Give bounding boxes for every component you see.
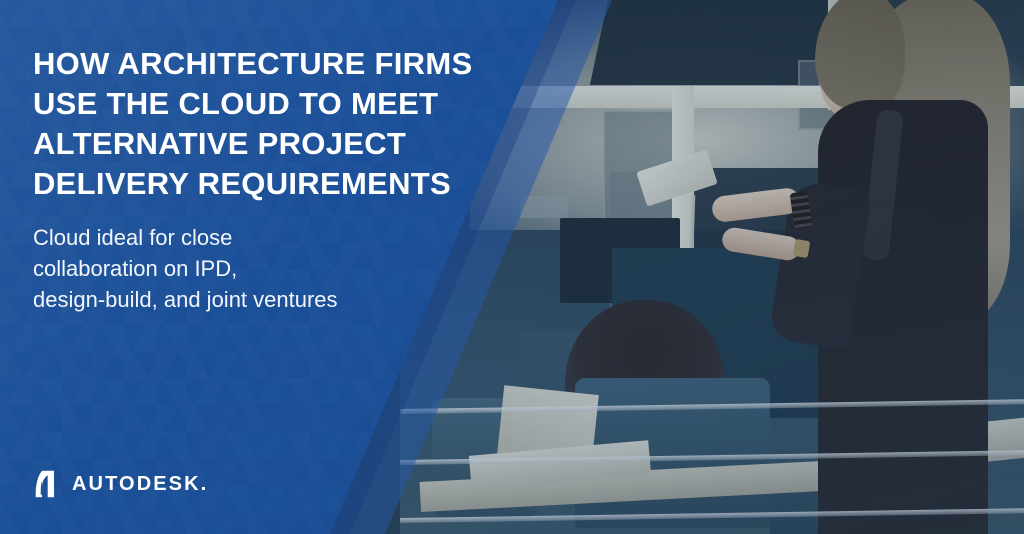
headline-line-4: DELIVERY REQUIREMENTS	[33, 164, 483, 204]
subhead-line-1: Cloud ideal for close	[33, 222, 453, 253]
autodesk-a-logo-icon	[33, 469, 63, 499]
subhead-line-2: collaboration on IPD,	[33, 253, 453, 284]
text-content: HOW ARCHITECTURE FIRMS USE THE CLOUD TO …	[33, 0, 503, 534]
headline-line-2: USE THE CLOUD TO MEET	[33, 84, 483, 124]
autodesk-logo: AUTODESK.	[33, 469, 208, 499]
page-subtitle: Cloud ideal for close collaboration on I…	[33, 222, 453, 315]
headline-line-1: HOW ARCHITECTURE FIRMS	[33, 44, 483, 84]
page-title: HOW ARCHITECTURE FIRMS USE THE CLOUD TO …	[33, 44, 483, 204]
headline-line-3: ALTERNATIVE PROJECT	[33, 124, 483, 164]
marketing-banner: HOW ARCHITECTURE FIRMS USE THE CLOUD TO …	[0, 0, 1024, 534]
subhead-line-3: design-build, and joint ventures	[33, 284, 453, 315]
autodesk-wordmark: AUTODESK.	[72, 474, 208, 494]
